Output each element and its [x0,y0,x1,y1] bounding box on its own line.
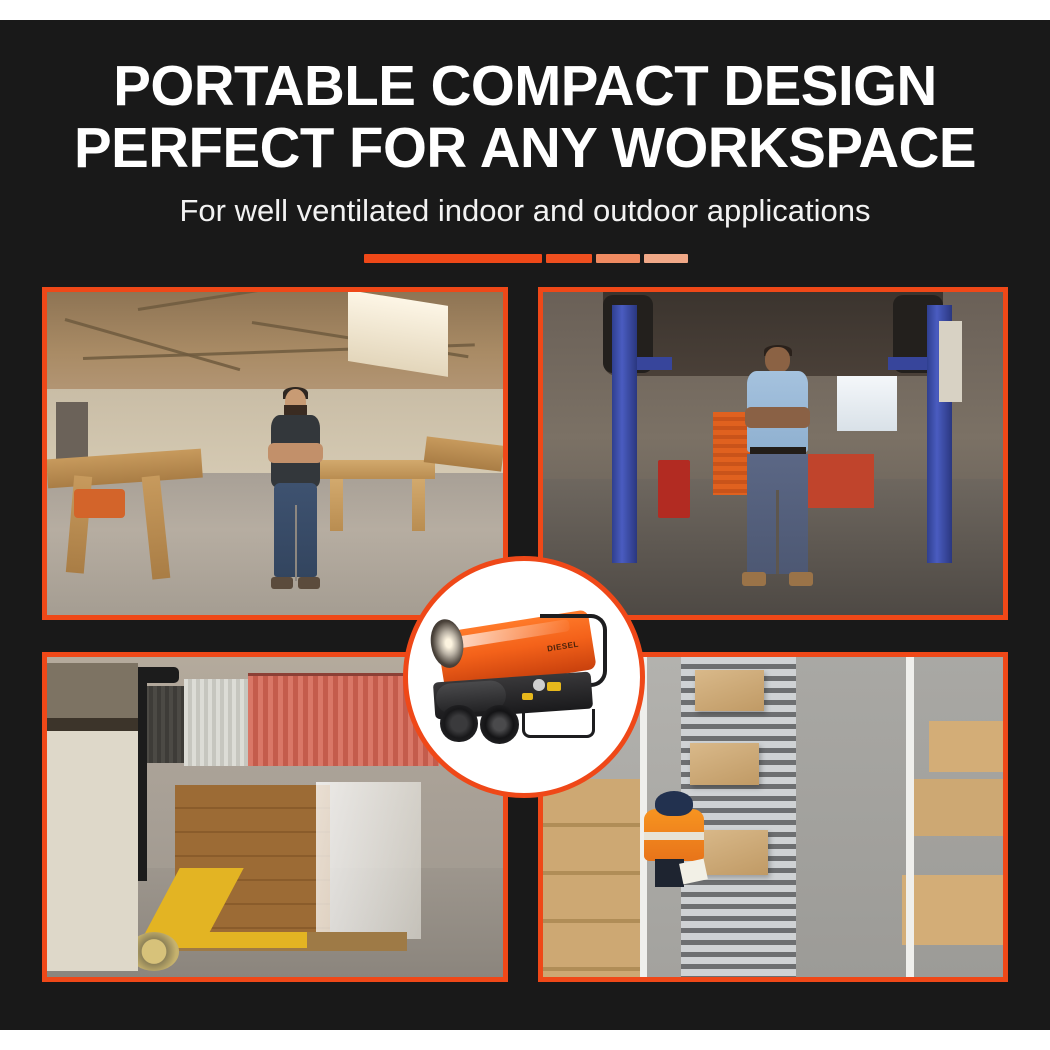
garage-window [837,376,897,431]
rear-workbench [316,460,435,479]
carton-stack-left [543,779,640,977]
carton-right-middle [911,779,1003,837]
parcel-on-conveyor [690,743,759,785]
portable-diesel-forced-air-heater: DIESEL [408,561,640,793]
heater-wheel-front [480,705,519,744]
person-leg-gap [295,505,297,581]
carton-right-upper [929,721,1003,772]
floor-line-right [906,657,913,977]
wall-control-panel [939,321,962,402]
person-crossed-arms [745,407,810,429]
carton-right-lower [902,875,1003,945]
shrink-wrap [316,782,421,939]
lift-arm-right [888,357,929,370]
heater-control-knob [533,679,545,691]
person-cap [655,791,693,816]
person-carpenter [261,389,329,589]
person-boot-right [789,572,813,586]
person-head [765,347,790,373]
lift-post-left [612,305,637,563]
photo-grid [0,20,1050,1030]
heater-control-switch [547,682,561,691]
pallet-jack-fork [161,932,307,948]
clipboard [679,858,708,884]
person-shoe-left [271,577,294,589]
heater-rear-bar [522,709,595,738]
parcel-on-conveyor [695,830,769,875]
heater-wheel-rear [440,705,477,742]
person-belt [47,718,138,731]
bench-leg [412,479,426,531]
shipping-container-white [184,679,252,765]
person-mechanic [741,347,815,586]
parcel-on-conveyor [695,670,764,712]
person-warehouse-worker [644,791,704,887]
bench-leg [330,479,344,531]
person-shoe-right [298,577,321,589]
vest-reflective-stripe [644,832,704,841]
product-highlight-circle: DIESEL [403,556,645,798]
table-saw [74,489,124,518]
person-dock-worker [47,663,138,970]
person-crossed-arms [268,443,323,463]
promo-banner: PORTABLE COMPACT DESIGN PERFECT FOR ANY … [0,20,1050,1030]
person-leg-gap [776,490,779,574]
person-boot-left [742,572,766,586]
oil-drum [658,460,690,518]
heater-control-switch [522,693,534,700]
